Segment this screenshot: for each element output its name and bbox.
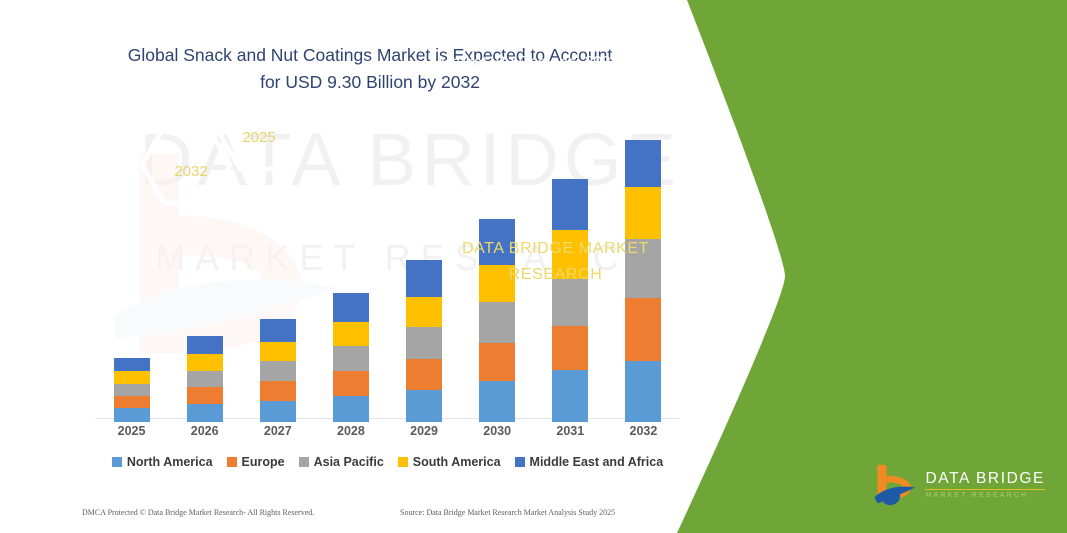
segment-middle-east-and-africa [333,293,369,322]
chart-legend: North AmericaEuropeAsia PacificSouth Ame… [95,455,680,469]
segment-middle-east-and-africa [260,319,296,342]
legend-label: Europe [242,455,285,469]
panel-brand-line2: RESEARCH [58,262,1053,288]
segment-north-america [114,408,150,422]
bar-2027 [260,319,296,422]
segment-north-america [406,390,442,422]
segment-asia-pacific [114,384,150,396]
panel-brand-line1: DATA BRIDGE MARKET [58,236,1053,262]
segment-north-america [479,381,515,422]
panel-title: Global Snack and Nut Coatings Market, By… [0,28,1067,74]
x-label-2027: 2027 [248,424,308,438]
segment-south-america [114,371,150,384]
bar-2028 [333,293,369,422]
segment-south-america [333,322,369,346]
segment-europe [187,387,223,403]
logo-divider [925,489,1045,490]
x-axis-labels: 20252026202720282029203020312032 [95,424,680,446]
infographic-canvas: DATA BRIDGE MARKET RESEARCH Global Snack… [0,0,1067,533]
legend-item-europe[interactable]: Europe [227,455,285,469]
hexagon-2032: 2032 [142,127,230,203]
legend-label: Asia Pacific [314,455,384,469]
segment-europe [552,326,588,371]
footer-source: Source: Data Bridge Market Research Mark… [400,508,615,517]
segment-europe [625,298,661,361]
segment-europe [114,396,150,408]
segment-south-america [260,342,296,361]
segment-middle-east-and-africa [187,336,223,354]
segment-north-america [625,361,661,422]
x-label-2032: 2032 [613,424,673,438]
segment-north-america [260,401,296,422]
segment-asia-pacific [406,327,442,359]
legend-item-asia-pacific[interactable]: Asia Pacific [299,455,384,469]
x-label-2030: 2030 [467,424,527,438]
legend-swatch-icon [515,457,525,467]
x-label-2029: 2029 [394,424,454,438]
footer-copyright: DMCA Protected © Data Bridge Market Rese… [82,508,314,517]
segment-asia-pacific [333,346,369,371]
segment-middle-east-and-africa [114,358,150,371]
legend-item-middle-east-and-africa[interactable]: Middle East and Africa [515,455,664,469]
legend-swatch-icon [398,457,408,467]
x-label-2031: 2031 [540,424,600,438]
legend-swatch-icon [227,457,237,467]
hexagon-badges-svg: 2032 2025 [0,100,400,220]
legend-item-north-america[interactable]: North America [112,455,213,469]
bar-2026 [187,336,223,422]
segment-north-america [333,396,369,422]
legend-label: North America [127,455,213,469]
data-bridge-logo: DATA BRIDGE MARKET RESEARCH [874,463,1045,507]
segment-north-america [552,370,588,422]
panel-brand: DATA BRIDGE MARKET RESEARCH [0,236,1067,288]
hexagon-2025-label: 2025 [242,129,275,146]
panel-title-line2: Market, By Regions, 2025 to 2032 [58,51,1057,74]
x-label-2026: 2026 [175,424,235,438]
segment-europe [479,343,515,382]
segment-asia-pacific [187,371,223,387]
hexagon-badges: 2032 2025 [0,100,1067,220]
x-label-2025: 2025 [102,424,162,438]
logo-text: DATA BRIDGE MARKET RESEARCH [925,471,1045,499]
segment-asia-pacific [479,302,515,343]
panel-title-line1: Global Snack and Nut Coatings [58,28,1057,51]
logo-text-bottom: MARKET RESEARCH [925,492,1045,499]
segment-north-america [187,404,223,422]
segment-europe [406,359,442,389]
x-label-2028: 2028 [321,424,381,438]
legend-swatch-icon [112,457,122,467]
bar-2025 [114,358,150,422]
legend-label: Middle East and Africa [530,455,664,469]
legend-item-south-america[interactable]: South America [398,455,501,469]
footer: DMCA Protected © Data Bridge Market Rese… [0,508,700,526]
hexagon-2032-label: 2032 [174,163,207,180]
segment-europe [260,381,296,400]
segment-south-america [187,354,223,371]
segment-europe [333,371,369,395]
legend-swatch-icon [299,457,309,467]
logo-text-top: DATA BRIDGE [925,471,1045,487]
segment-asia-pacific [260,361,296,381]
hexagon-2025: 2025 [221,103,297,169]
segment-south-america [406,297,442,327]
legend-label: South America [413,455,501,469]
logo-mark-icon [874,463,916,507]
